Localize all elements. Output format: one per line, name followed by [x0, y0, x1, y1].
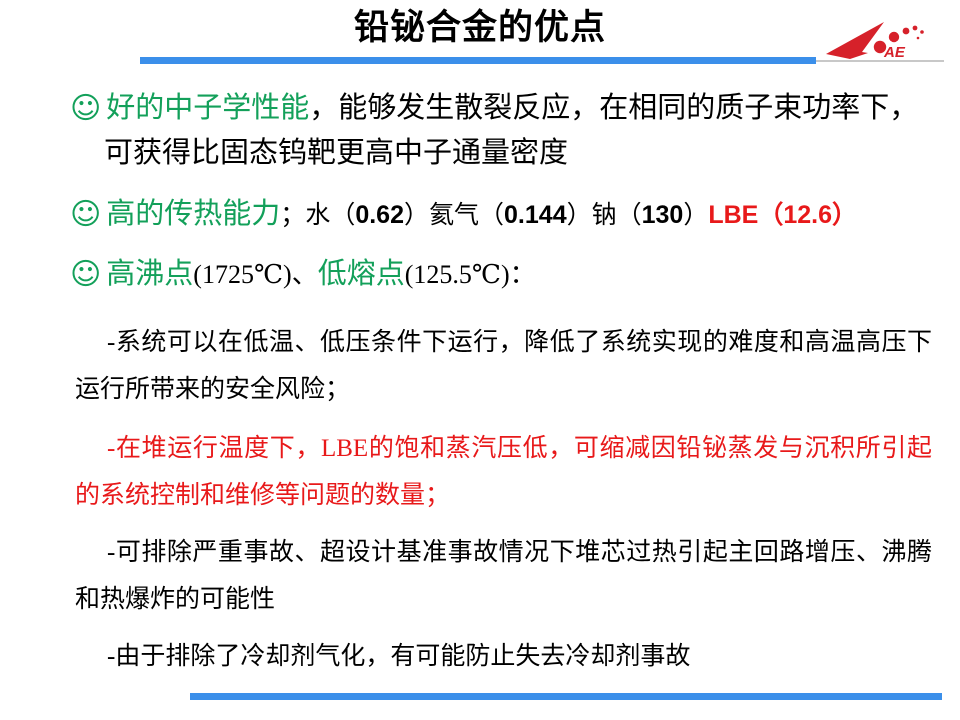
detail-paragraph-3: -可排除严重事故、超设计基准事故情况下堆芯过热引起主回路增压、沸腾和热爆炸的可能…: [0, 529, 960, 623]
bullet-3-highlight-1: 高沸点: [106, 258, 193, 290]
bottom-divider-blue: [190, 693, 942, 700]
logo-text: AE: [883, 44, 906, 61]
coolant-3-value: 130: [642, 201, 684, 229]
bullet-3-separator: 、: [292, 260, 318, 289]
coolant-3-close: ）: [683, 202, 708, 229]
bullet-item-1: ☺好的中子学性能，能够发生散裂反应，在相同的质子束功率下，可获得比固态钨靶更高中…: [0, 86, 960, 176]
coolant-1-close: ）: [404, 202, 429, 229]
coolant-3-label: 钠（: [592, 202, 642, 229]
paragraph-1-text: 系统可以在低温、低压条件下运行，降低了系统实现的难度和高温高压下运行所带来的安全…: [75, 329, 932, 403]
bullet-item-3: ☺高沸点(1725℃)、低熔点(125.5℃)：: [0, 252, 960, 297]
smiley-icon: ☺: [70, 257, 101, 292]
title-divider-blue: [140, 57, 816, 64]
smiley-icon: ☺: [70, 197, 101, 232]
coolant-1-label: 水（: [305, 202, 355, 229]
page-title: 铅铋合金的优点: [0, 6, 960, 50]
bullet-2-separator: ；: [280, 202, 305, 229]
bullet-3-highlight-2: 低熔点: [318, 258, 405, 290]
paragraph-4-text: 由于排除了冷却剂气化，有可能防止失去冷却剂事故: [115, 643, 690, 670]
coolant-2-value: 0.144: [504, 201, 567, 229]
paragraph-3-text: 可排除严重事故、超设计基准事故情况下堆芯过热引起主回路增压、沸腾和热爆炸的可能性: [75, 539, 932, 613]
bullet-item-2: ☺高的传热能力；水（0.62）氦气（0.144）钠（130）LBE（12.6）: [0, 192, 960, 238]
slide-body: ☺好的中子学性能，能够发生散裂反应，在相同的质子束功率下，可获得比固态钨靶更高中…: [0, 78, 960, 680]
coolant-4-label: LBE（: [708, 201, 783, 229]
coolant-2-label: 氦气（: [429, 202, 504, 229]
paragraph-2-text: 在堆运行温度下，LBE的饱和蒸汽压低，可缩减因铅铋蒸发与沉积所引起的系统控制和维…: [75, 435, 932, 509]
organization-logo: AE: [822, 14, 942, 62]
coolant-4-close: ）: [832, 201, 857, 229]
smiley-icon: ☺: [70, 91, 101, 126]
bullet-3-tail: ：: [510, 260, 536, 289]
slide-header: 铅铋合金的优点 AE: [0, 0, 960, 78]
detail-paragraph-2: -在堆运行温度下，LBE的饱和蒸汽压低，可缩减因铅铋蒸发与沉积所引起的系统控制和…: [0, 425, 960, 519]
coolant-2-close: ）: [567, 202, 592, 229]
melting-point-value: (125.5℃): [405, 260, 510, 289]
boiling-point-value: (1725℃): [193, 260, 291, 289]
detail-paragraph-1: -系统可以在低温、低压条件下运行，降低了系统实现的难度和高温高压下运行所带来的安…: [0, 319, 960, 413]
coolant-4-value: 12.6: [783, 201, 832, 229]
coolant-1-value: 0.62: [355, 201, 404, 229]
bullet-1-highlight: 好的中子学性能: [106, 92, 309, 124]
detail-paragraph-4: -由于排除了冷却剂气化，有可能防止失去冷却剂事故: [0, 633, 960, 680]
bullet-2-highlight: 高的传热能力: [106, 198, 280, 230]
